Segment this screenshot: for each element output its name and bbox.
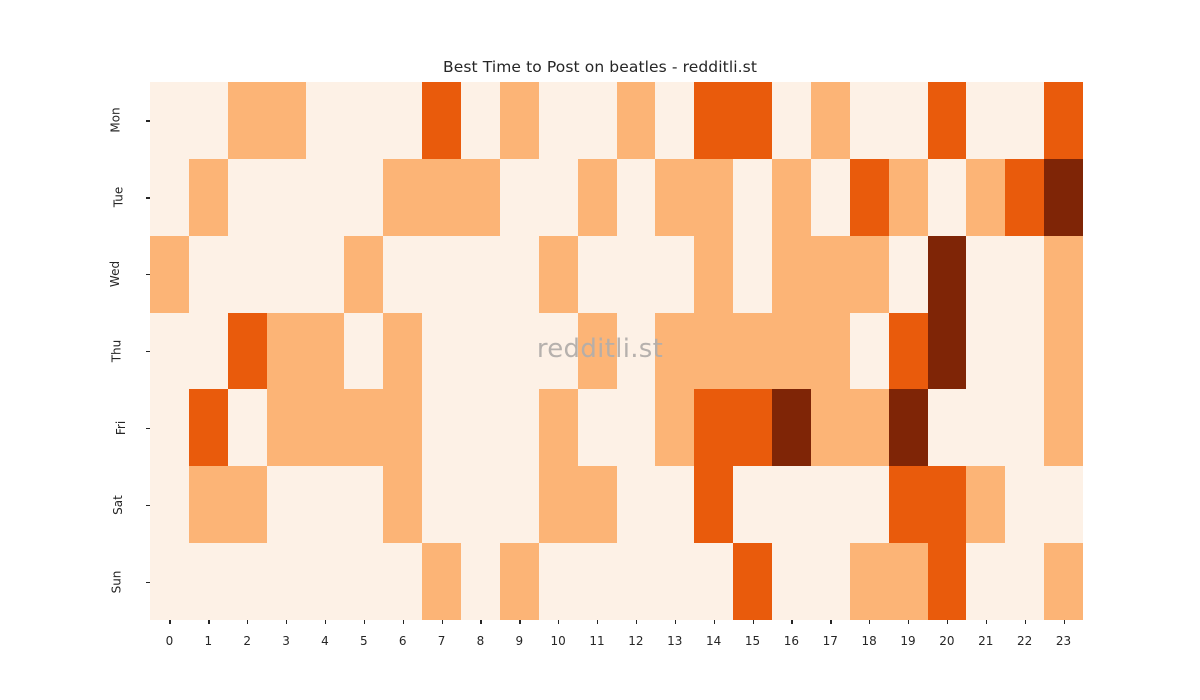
heatmap-cell xyxy=(306,159,345,236)
x-axis-tick-mark xyxy=(675,620,676,624)
heatmap-cell xyxy=(617,159,656,236)
heatmap-cell xyxy=(1044,236,1083,313)
heatmap-cell xyxy=(150,159,189,236)
heatmap-cell xyxy=(655,82,694,159)
x-axis-tick-label: 14 xyxy=(694,634,733,648)
heatmap-cell xyxy=(539,389,578,466)
x-axis-tick-mark xyxy=(791,620,792,624)
heatmap-cell xyxy=(267,389,306,466)
heatmap-cell xyxy=(889,543,928,620)
heatmap-cell xyxy=(811,313,850,390)
heatmap-cell xyxy=(578,466,617,543)
x-axis-tick-label: 2 xyxy=(228,634,267,648)
heatmap-cell xyxy=(150,82,189,159)
y-axis-tick-text: Fri xyxy=(114,421,128,435)
heatmap-cell xyxy=(383,236,422,313)
heatmap-cell xyxy=(422,313,461,390)
y-axis-tick-label: Sat xyxy=(68,466,128,543)
heatmap-cell xyxy=(733,82,772,159)
heatmap-cell xyxy=(383,82,422,159)
x-axis-tick-label: 10 xyxy=(539,634,578,648)
heatmap-cell xyxy=(694,82,733,159)
heatmap-cell xyxy=(422,82,461,159)
x-axis-tick-label: 21 xyxy=(966,634,1005,648)
x-axis-tick-label: 13 xyxy=(655,634,694,648)
heatmap-cell xyxy=(306,313,345,390)
heatmap-cell xyxy=(694,313,733,390)
heatmap-cell xyxy=(383,543,422,620)
x-axis-tick-mark xyxy=(597,620,598,624)
heatmap-cell xyxy=(500,466,539,543)
heatmap-cell xyxy=(889,236,928,313)
heatmap-cell xyxy=(306,543,345,620)
page-title: Best Time to Post on beatles - redditli.… xyxy=(0,58,1200,76)
x-axis-tick-label: 6 xyxy=(383,634,422,648)
heatmap-cell xyxy=(422,159,461,236)
heatmap-cell xyxy=(928,159,967,236)
heatmap-cell xyxy=(344,543,383,620)
y-axis-tick-text: Sun xyxy=(110,570,124,593)
heatmap-cell xyxy=(539,159,578,236)
heatmap-cell xyxy=(733,159,772,236)
heatmap-cell xyxy=(383,159,422,236)
heatmap-cell xyxy=(228,236,267,313)
heatmap-cell xyxy=(500,543,539,620)
heatmap-cell xyxy=(267,543,306,620)
heatmap-cell xyxy=(850,159,889,236)
heatmap-cell xyxy=(889,389,928,466)
heatmap-cell xyxy=(617,466,656,543)
x-axis-tick-mark xyxy=(636,620,637,624)
heatmap-cell xyxy=(189,82,228,159)
x-axis-tick-mark xyxy=(286,620,287,624)
x-axis-tick-mark xyxy=(869,620,870,624)
x-axis-tick-label: 19 xyxy=(889,634,928,648)
heatmap-cell xyxy=(306,82,345,159)
heatmap-cell xyxy=(461,466,500,543)
heatmap-cell xyxy=(383,313,422,390)
x-axis-tick-label: 15 xyxy=(733,634,772,648)
heatmap-cell xyxy=(189,159,228,236)
x-axis-tick-mark xyxy=(442,620,443,624)
heatmap-cell xyxy=(889,466,928,543)
heatmap-cell xyxy=(578,82,617,159)
heatmap-cell xyxy=(344,389,383,466)
x-axis-tick-mark xyxy=(558,620,559,624)
heatmap-cell xyxy=(772,389,811,466)
heatmap-cell xyxy=(1044,159,1083,236)
heatmap-cell xyxy=(733,466,772,543)
heatmap-cell xyxy=(733,389,772,466)
heatmap-cell xyxy=(150,313,189,390)
x-axis-tick-mark xyxy=(169,620,170,624)
heatmap-cell xyxy=(344,82,383,159)
heatmap-cell xyxy=(733,543,772,620)
heatmap-cell xyxy=(850,313,889,390)
x-axis-tick-label: 18 xyxy=(850,634,889,648)
heatmap-cell xyxy=(189,313,228,390)
heatmap-cell xyxy=(617,543,656,620)
heatmap-cell xyxy=(811,543,850,620)
y-axis-tick-label: Sun xyxy=(68,543,128,620)
heatmap-cell xyxy=(772,82,811,159)
heatmap-cell xyxy=(889,313,928,390)
heatmap-cell xyxy=(267,313,306,390)
x-axis-tick-label: 11 xyxy=(578,634,617,648)
heatmap-cell xyxy=(150,389,189,466)
heatmap-cell xyxy=(655,466,694,543)
x-axis-tick-mark xyxy=(480,620,481,624)
heatmap-cell xyxy=(539,543,578,620)
heatmap-cell xyxy=(1005,466,1044,543)
heatmap-cell xyxy=(422,466,461,543)
heatmap-cell xyxy=(850,82,889,159)
heatmap-cell xyxy=(1005,313,1044,390)
heatmap-cell xyxy=(422,543,461,620)
heatmap-cell xyxy=(461,236,500,313)
heatmap-cell xyxy=(655,159,694,236)
y-axis-tick-text: Tue xyxy=(111,187,125,208)
heatmap-cell xyxy=(772,466,811,543)
heatmap-cell xyxy=(966,543,1005,620)
heatmap-cell xyxy=(189,236,228,313)
heatmap-cell xyxy=(889,82,928,159)
heatmap-cell xyxy=(461,159,500,236)
heatmap-cell xyxy=(539,236,578,313)
heatmap-cell xyxy=(733,236,772,313)
heatmap-cell xyxy=(1005,236,1044,313)
heatmap-cell xyxy=(461,82,500,159)
heatmap-cell xyxy=(1044,466,1083,543)
heatmap-cell xyxy=(344,159,383,236)
heatmap-cell xyxy=(344,236,383,313)
heatmap-cell xyxy=(150,543,189,620)
heatmap-cell xyxy=(928,466,967,543)
heatmap-cell xyxy=(1044,82,1083,159)
heatmap-cell xyxy=(889,159,928,236)
heatmap-cell xyxy=(189,543,228,620)
heatmap-cell xyxy=(344,313,383,390)
heatmap-cell xyxy=(578,236,617,313)
heatmap-cell xyxy=(966,82,1005,159)
heatmap-cell xyxy=(811,82,850,159)
heatmap-cell xyxy=(655,313,694,390)
heatmap-cell xyxy=(267,159,306,236)
heatmap-cell xyxy=(1005,389,1044,466)
heatmap-figure: Best Time to Post on beatles - redditli.… xyxy=(0,0,1200,700)
heatmap-cell xyxy=(617,389,656,466)
heatmap-cell xyxy=(1044,543,1083,620)
y-axis-tick-text: Sat xyxy=(111,495,125,515)
x-axis-tick-label: 17 xyxy=(811,634,850,648)
heatmap-cell xyxy=(150,466,189,543)
x-axis-tick-mark xyxy=(986,620,987,624)
heatmap-cell xyxy=(344,466,383,543)
heatmap-cell xyxy=(966,466,1005,543)
heatmap-cell xyxy=(694,543,733,620)
heatmap-cell xyxy=(267,466,306,543)
y-axis-tick-text: Thu xyxy=(110,340,124,363)
heatmap-cell xyxy=(1005,82,1044,159)
x-axis-tick-mark xyxy=(208,620,209,624)
heatmap-cell xyxy=(850,466,889,543)
heatmap-cell xyxy=(228,159,267,236)
heatmap-cell xyxy=(539,466,578,543)
x-axis-tick-label: 16 xyxy=(772,634,811,648)
x-axis-tick-mark xyxy=(947,620,948,624)
x-axis-tick-label: 4 xyxy=(306,634,345,648)
heatmap-cell xyxy=(500,313,539,390)
x-axis-tick-label: 22 xyxy=(1005,634,1044,648)
x-axis-tick-mark xyxy=(830,620,831,624)
heatmap-cell xyxy=(383,466,422,543)
heatmap-cell xyxy=(772,236,811,313)
heatmap-cell xyxy=(928,389,967,466)
heatmap-cell xyxy=(694,389,733,466)
heatmap-cell xyxy=(850,236,889,313)
heatmap-cell xyxy=(811,466,850,543)
y-axis-tick-text: Mon xyxy=(108,108,122,133)
heatmap-cell xyxy=(928,82,967,159)
x-axis-tick-label: 12 xyxy=(617,634,656,648)
heatmap-cell xyxy=(1005,543,1044,620)
x-axis-tick-mark xyxy=(1025,620,1026,624)
x-axis-tick-mark xyxy=(753,620,754,624)
heatmap-cell xyxy=(539,313,578,390)
heatmap-cell xyxy=(267,236,306,313)
y-axis-tick-label: Fri xyxy=(68,389,128,466)
heatmap-cell xyxy=(306,389,345,466)
heatmap-cell xyxy=(694,159,733,236)
heatmap-cell xyxy=(461,313,500,390)
x-axis-tick-mark xyxy=(403,620,404,624)
y-axis-tick-label: Wed xyxy=(68,236,128,313)
heatmap-cell xyxy=(500,236,539,313)
x-axis-tick-mark xyxy=(364,620,365,624)
heatmap-cell xyxy=(150,236,189,313)
x-axis-tick-mark xyxy=(247,620,248,624)
heatmap-cell xyxy=(267,82,306,159)
x-axis-tick-label: 7 xyxy=(422,634,461,648)
y-axis-tick-label: Thu xyxy=(68,313,128,390)
heatmap-cell xyxy=(966,313,1005,390)
heatmap-cell xyxy=(578,159,617,236)
x-axis-tick-label: 5 xyxy=(344,634,383,648)
heatmap-cell xyxy=(811,236,850,313)
x-axis-tick-label: 0 xyxy=(150,634,189,648)
x-axis-tick-mark xyxy=(714,620,715,624)
heatmap-cell xyxy=(966,389,1005,466)
x-axis-tick-mark xyxy=(908,620,909,624)
heatmap-cell xyxy=(655,543,694,620)
heatmap-cell xyxy=(578,543,617,620)
heatmap-cell xyxy=(617,236,656,313)
heatmap-cell xyxy=(850,389,889,466)
heatmap-cell xyxy=(189,389,228,466)
heatmap-cell xyxy=(500,389,539,466)
heatmap-cell xyxy=(811,389,850,466)
heatmap-cell xyxy=(306,466,345,543)
heatmap-cell xyxy=(500,159,539,236)
heatmap-cell xyxy=(928,313,967,390)
heatmap-cell xyxy=(655,389,694,466)
heatmap-cell xyxy=(772,543,811,620)
y-axis-tick-label: Mon xyxy=(68,82,128,159)
heatmap-cell xyxy=(811,159,850,236)
heatmap-cell xyxy=(578,389,617,466)
heatmap-cell xyxy=(966,236,1005,313)
heatmap-cell xyxy=(617,82,656,159)
x-axis-tick-label: 9 xyxy=(500,634,539,648)
heatmap-cell xyxy=(228,543,267,620)
heatmap-cell xyxy=(733,313,772,390)
y-axis: MonTueWedThuFriSatSun xyxy=(0,82,150,620)
heatmap-cell xyxy=(850,543,889,620)
x-axis-tick-mark xyxy=(1064,620,1065,624)
heatmap-grid xyxy=(150,82,1083,620)
x-axis-tick-label: 3 xyxy=(267,634,306,648)
heatmap-cell xyxy=(461,543,500,620)
heatmap-cell xyxy=(578,313,617,390)
y-axis-tick-label: Tue xyxy=(68,159,128,236)
x-axis-tick-mark xyxy=(519,620,520,624)
heatmap-cell xyxy=(772,313,811,390)
x-axis-tick-label: 8 xyxy=(461,634,500,648)
heatmap-cell xyxy=(694,236,733,313)
y-axis-tick-text: Wed xyxy=(108,261,122,287)
heatmap-cell xyxy=(1044,313,1083,390)
x-axis-tick-label: 1 xyxy=(189,634,228,648)
heatmap-cell xyxy=(189,466,228,543)
x-axis: 01234567891011121314151617181920212223 xyxy=(150,620,1083,660)
heatmap-cell xyxy=(422,389,461,466)
heatmap-cell xyxy=(461,389,500,466)
heatmap-cell xyxy=(966,159,1005,236)
heatmap-cell xyxy=(228,313,267,390)
x-axis-tick-mark xyxy=(325,620,326,624)
heatmap-cell xyxy=(228,466,267,543)
x-axis-tick-label: 23 xyxy=(1044,634,1083,648)
heatmap-cell xyxy=(500,82,539,159)
heatmap-cell xyxy=(772,159,811,236)
heatmap-cell xyxy=(539,82,578,159)
heatmap-cell xyxy=(694,466,733,543)
heatmap-cell xyxy=(1044,389,1083,466)
heatmap-cell xyxy=(928,236,967,313)
heatmap-cell xyxy=(228,82,267,159)
x-axis-tick-label: 20 xyxy=(928,634,967,648)
heatmap-cell xyxy=(1005,159,1044,236)
heatmap-cell xyxy=(928,543,967,620)
heatmap-cell xyxy=(306,236,345,313)
heatmap-cell xyxy=(655,236,694,313)
heatmap-cell xyxy=(422,236,461,313)
heatmap-cell xyxy=(617,313,656,390)
heatmap-cell xyxy=(228,389,267,466)
heatmap-cell xyxy=(383,389,422,466)
